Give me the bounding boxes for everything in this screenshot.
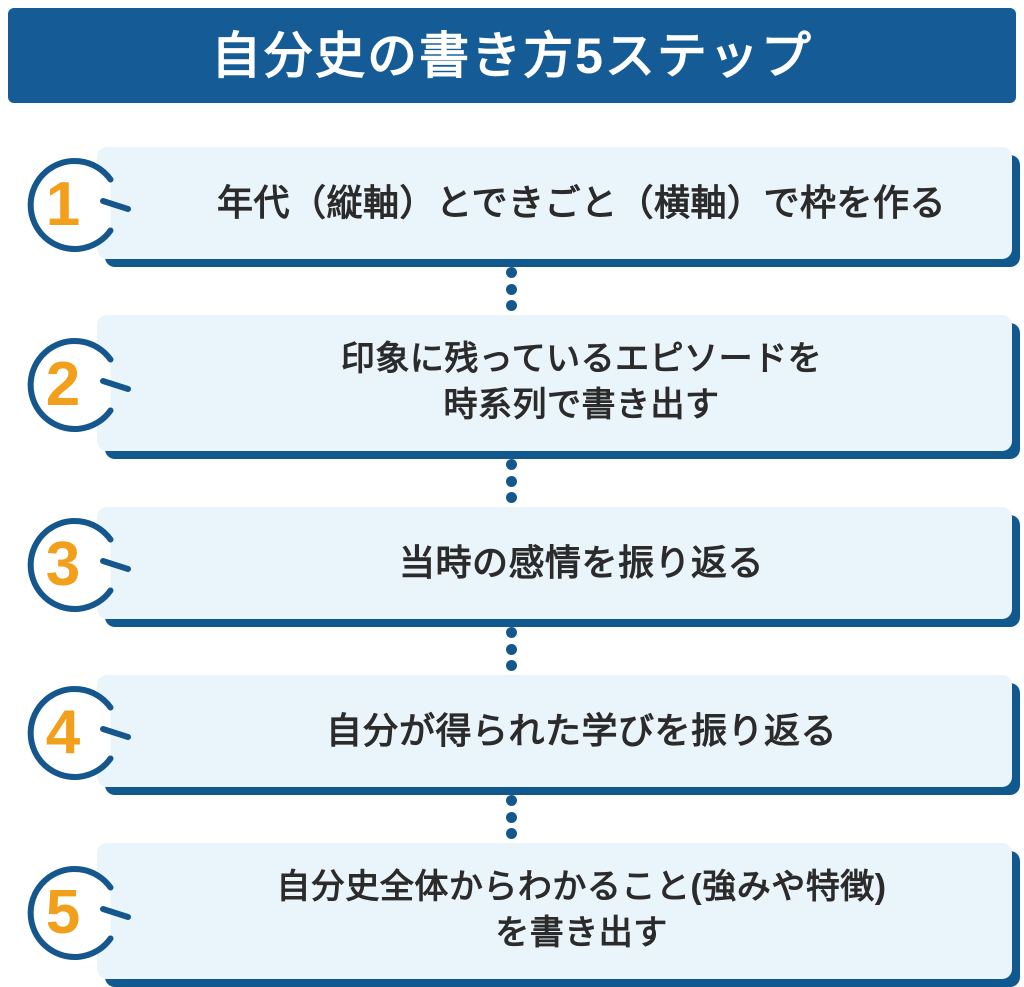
vertical-dots-connector-icon [506, 267, 517, 311]
step-row: 当時の感情を振り返る3 [0, 503, 1024, 627]
step-panel[interactable]: 当時の感情を振り返る [97, 507, 1012, 619]
step-item[interactable]: 当時の感情を振り返る3 [0, 503, 1024, 627]
step-number: 3 [14, 506, 112, 624]
header-bar: 自分史の書き方5ステップ [8, 8, 1016, 103]
steps-list: 年代（縦軸）とできごと（横軸）で枠を作る1印象に残っているエピソードを 時系列で… [0, 143, 1024, 987]
step-number: 1 [14, 146, 112, 264]
step-connector [0, 795, 1024, 839]
connector-dot [506, 812, 517, 823]
step-panel[interactable]: 印象に残っているエピソードを 時系列で書き出す [97, 315, 1012, 451]
step-label: 自分史全体からわかること(強みや特徴) を書き出す [276, 865, 886, 956]
step-connector [0, 627, 1024, 671]
step-row: 自分史全体からわかること(強みや特徴) を書き出す5 [0, 839, 1024, 987]
connector-dot [506, 492, 517, 503]
step-number: 5 [14, 854, 112, 972]
step-label: 自分が得られた学びを振り返る [326, 707, 837, 755]
step-number-badge: 4 [14, 674, 132, 792]
vertical-dots-connector-icon [506, 459, 517, 503]
step-label: 当時の感情を振り返る [399, 539, 764, 587]
connector-dot [506, 459, 517, 470]
connector-dot [506, 627, 517, 638]
step-panel[interactable]: 自分が得られた学びを振り返る [97, 675, 1012, 787]
connector-dot [506, 476, 517, 487]
connector-dot [506, 300, 517, 311]
step-connector [0, 459, 1024, 503]
connector-dot [506, 644, 517, 655]
vertical-dots-connector-icon [506, 795, 517, 839]
connector-dot [506, 795, 517, 806]
step-number-badge: 3 [14, 506, 132, 624]
step-number: 2 [14, 326, 112, 444]
step-row: 自分が得られた学びを振り返る4 [0, 671, 1024, 795]
step-item[interactable]: 印象に残っているエピソードを 時系列で書き出す2 [0, 311, 1024, 459]
step-number-badge: 2 [14, 326, 132, 444]
vertical-dots-connector-icon [506, 627, 517, 671]
connector-dot [506, 828, 517, 839]
step-item[interactable]: 自分史全体からわかること(強みや特徴) を書き出す5 [0, 839, 1024, 987]
step-number-badge: 1 [14, 146, 132, 264]
connector-dot [506, 660, 517, 671]
step-label: 年代（縦軸）とできごと（横軸）で枠を作る [217, 179, 946, 227]
step-panel[interactable]: 自分史全体からわかること(強みや特徴) を書き出す [97, 843, 1012, 979]
step-label: 印象に残っているエピソードを 時系列で書き出す [341, 337, 822, 428]
step-number: 4 [14, 674, 112, 792]
page-title: 自分史の書き方5ステップ [211, 31, 813, 81]
connector-dot [506, 267, 517, 278]
step-panel[interactable]: 年代（縦軸）とできごと（横軸）で枠を作る [97, 147, 1012, 259]
step-row: 年代（縦軸）とできごと（横軸）で枠を作る1 [0, 143, 1024, 267]
step-item[interactable]: 自分が得られた学びを振り返る4 [0, 671, 1024, 795]
step-number-badge: 5 [14, 854, 132, 972]
step-item[interactable]: 年代（縦軸）とできごと（横軸）で枠を作る1 [0, 143, 1024, 267]
step-row: 印象に残っているエピソードを 時系列で書き出す2 [0, 311, 1024, 459]
infographic-root: 自分史の書き方5ステップ 年代（縦軸）とできごと（横軸）で枠を作る1印象に残って… [0, 0, 1024, 969]
connector-dot [506, 284, 517, 295]
step-connector [0, 267, 1024, 311]
